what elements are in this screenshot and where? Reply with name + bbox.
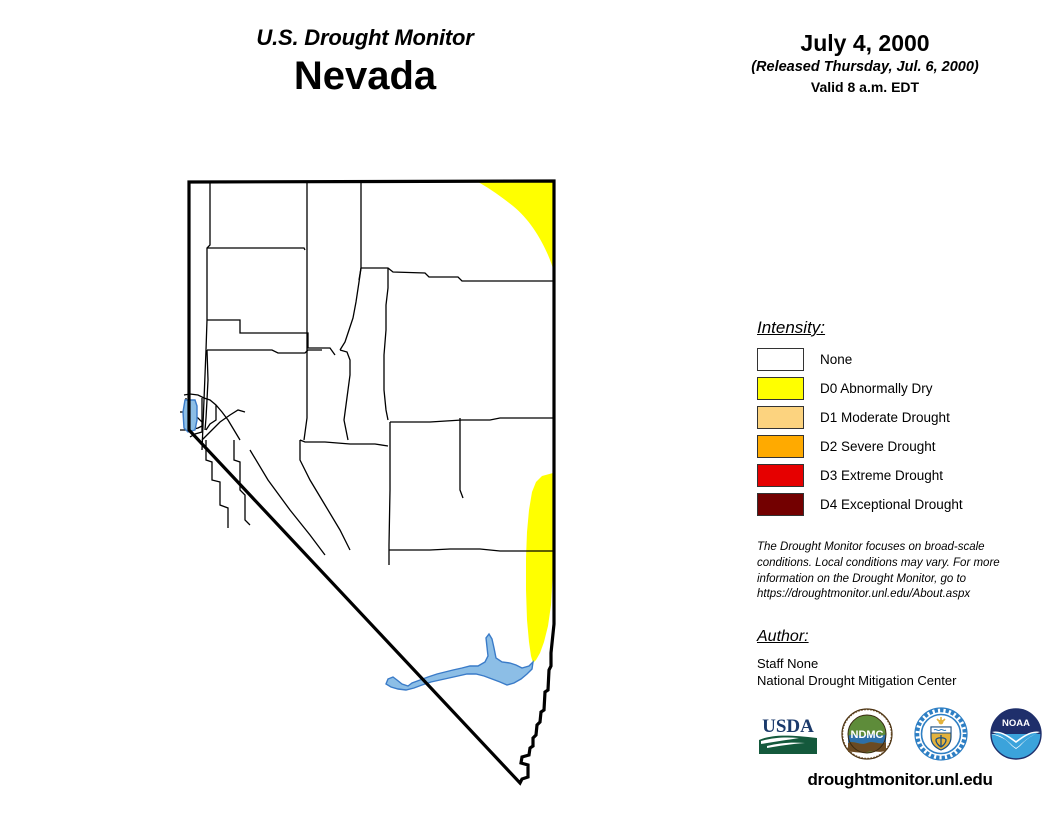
- legend-label-none: None: [820, 352, 852, 367]
- page-title: U.S. Drought Monitor: [130, 26, 600, 49]
- legend-item-d2: D2 Severe Drought: [757, 432, 1037, 461]
- state-title: Nevada: [130, 53, 600, 99]
- legend-label-d0: D0 Abnormally Dry: [820, 381, 933, 396]
- legend-label-d1: D1 Moderate Drought: [820, 410, 950, 425]
- svg-text:USDA: USDA: [762, 716, 814, 737]
- legend-swatch-d1: [757, 406, 804, 429]
- valid-time: Valid 8 a.m. EDT: [700, 79, 1030, 95]
- date-block: July 4, 2000 (Released Thursday, Jul. 6,…: [700, 30, 1030, 95]
- legend-item-d0: D0 Abnormally Dry: [757, 374, 1037, 403]
- legend-label-d4: D4 Exceptional Drought: [820, 497, 963, 512]
- legend-swatch-d0: [757, 377, 804, 400]
- author-organization: National Drought Mitigation Center: [757, 672, 1037, 689]
- valid-date: July 4, 2000: [700, 30, 1030, 56]
- disclaimer-text: The Drought Monitor focuses on broad-sca…: [757, 540, 1025, 603]
- svg-text:NOAA: NOAA: [1002, 718, 1030, 729]
- legend-item-d4: D4 Exceptional Drought: [757, 490, 1037, 519]
- legend-title: Intensity:: [757, 318, 1037, 338]
- title-block: U.S. Drought Monitor Nevada: [130, 26, 600, 99]
- logo-row: USDA NDMC NOAA: [757, 703, 1042, 765]
- usda-seal-logo: [914, 707, 968, 761]
- ndmc-logo: NDMC: [841, 708, 893, 760]
- nevada-drought-map: [150, 150, 620, 800]
- legend-label-d2: D2 Severe Drought: [820, 439, 936, 454]
- release-date: (Released Thursday, Jul. 6, 2000): [700, 59, 1030, 75]
- legend-swatch-none: [757, 348, 804, 371]
- legend-item-d3: D3 Extreme Drought: [757, 461, 1037, 490]
- legend-item-none: None: [757, 345, 1037, 374]
- legend-label-d3: D3 Extreme Drought: [820, 468, 943, 483]
- author-block: Author: Staff None National Drought Miti…: [757, 628, 1037, 689]
- state-outline-fill: [189, 181, 554, 783]
- svg-text:NDMC: NDMC: [850, 729, 883, 741]
- legend-swatch-d4: [757, 493, 804, 516]
- site-url: droughtmonitor.unl.edu: [740, 770, 1056, 790]
- usda-logo: USDA: [757, 710, 819, 758]
- legend-item-d1: D1 Moderate Drought: [757, 403, 1037, 432]
- author-name: Staff None: [757, 655, 1037, 672]
- intensity-legend: Intensity: None D0 Abnormally Dry D1 Mod…: [757, 318, 1037, 519]
- noaa-logo: NOAA: [990, 708, 1042, 760]
- legend-swatch-d3: [757, 464, 804, 487]
- author-title: Author:: [757, 628, 1037, 646]
- legend-swatch-d2: [757, 435, 804, 458]
